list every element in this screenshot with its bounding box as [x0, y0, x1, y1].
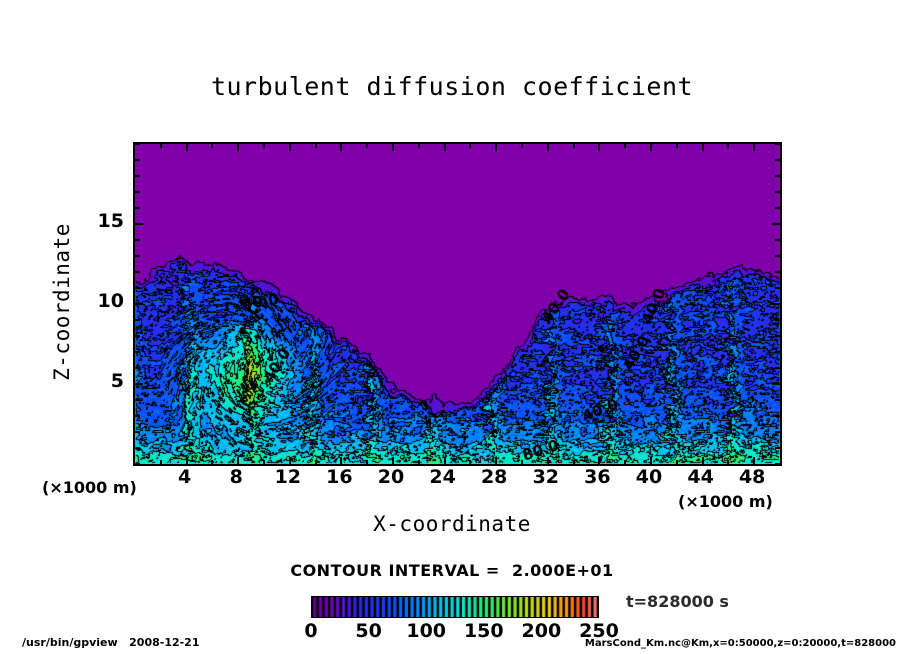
- x-axis-tick-top: [702, 144, 704, 151]
- y-axis-minor-tick: [135, 207, 140, 209]
- y-axis-minor-tick: [135, 335, 140, 337]
- gpview-plot-window: { "header": { "title": "turbulent diffus…: [0, 0, 904, 654]
- x-axis-minor-tick-top: [573, 144, 575, 148]
- x-axis-minor-tick-top: [263, 144, 265, 148]
- y-axis-minor-tick: [135, 287, 140, 289]
- x-axis-minor-tick-top: [676, 144, 678, 148]
- colorbar-tick-label: 50: [344, 620, 394, 642]
- y-axis-minor-tick: [775, 239, 780, 241]
- y-axis-minor-tick: [135, 399, 140, 401]
- y-axis-minor-tick: [775, 143, 780, 145]
- time-stamp: t=828000 s: [626, 592, 729, 611]
- x-axis-minor-tick: [418, 460, 420, 464]
- colorbar-gradient: [312, 597, 598, 617]
- x-axis-tick-top: [289, 144, 291, 151]
- y-axis-minor-tick: [775, 399, 780, 401]
- turbulence-field-heatmap: [135, 144, 780, 464]
- x-axis-minor-tick-top: [418, 144, 420, 148]
- y-axis-minor-tick: [135, 175, 140, 177]
- x-axis-minor-tick: [211, 460, 213, 464]
- x-axis-tick-top: [650, 144, 652, 151]
- y-axis-tick: [135, 223, 143, 225]
- x-axis-minor-tick-top: [160, 144, 162, 148]
- x-axis-minor-tick-top: [624, 144, 626, 148]
- x-axis-tick-top: [495, 144, 497, 151]
- x-axis-minor-tick: [315, 460, 317, 464]
- x-axis-tick-top: [753, 144, 755, 151]
- x-tick-label: 36: [574, 466, 620, 488]
- x-tick-label: 8: [213, 466, 259, 488]
- y-axis-minor-tick: [135, 415, 140, 417]
- y-axis-minor-tick: [135, 159, 140, 161]
- x-tick-label: 24: [420, 466, 466, 488]
- x-tick-label: 40: [626, 466, 672, 488]
- y-axis-minor-tick: [775, 287, 780, 289]
- y-axis-minor-tick: [775, 319, 780, 321]
- y-axis-minor-tick: [135, 431, 140, 433]
- x-tick-label: 4: [162, 466, 208, 488]
- x-axis-tick: [392, 457, 394, 464]
- x-axis-unit-note: (×1000 m): [678, 492, 773, 511]
- y-axis-tick: [772, 223, 780, 225]
- x-axis-minor-tick-top: [727, 144, 729, 148]
- colorbar-tick-label: 200: [516, 620, 566, 642]
- y-tick-label: 10: [84, 290, 124, 312]
- x-axis-title: X-coordinate: [0, 512, 904, 536]
- x-axis-minor-tick: [263, 460, 265, 464]
- y-axis-minor-tick: [775, 415, 780, 417]
- plot-area: 40.040.040.040.040.080.040.0: [133, 142, 782, 466]
- y-axis-minor-tick: [775, 463, 780, 465]
- y-axis-minor-tick: [775, 271, 780, 273]
- x-tick-label: 32: [523, 466, 569, 488]
- y-axis-unit-note: (×1000 m): [42, 478, 137, 497]
- colorbar: [311, 596, 599, 618]
- x-axis-tick: [495, 457, 497, 464]
- x-axis-minor-tick-top: [211, 144, 213, 148]
- x-axis-tick-top: [392, 144, 394, 151]
- x-axis-tick: [753, 457, 755, 464]
- contour-interval-caption: CONTOUR INTERVAL = 2.000E+01: [0, 561, 904, 580]
- x-axis-tick: [237, 457, 239, 464]
- y-axis-minor-tick: [775, 207, 780, 209]
- x-axis-minor-tick: [521, 460, 523, 464]
- x-axis-tick: [702, 457, 704, 464]
- x-axis-tick-top: [444, 144, 446, 151]
- x-axis-minor-tick: [624, 460, 626, 464]
- y-axis-title: Z-coordinate: [50, 182, 74, 422]
- x-axis-tick: [598, 457, 600, 464]
- x-axis-tick: [547, 457, 549, 464]
- x-axis-tick-top: [186, 144, 188, 151]
- y-axis-minor-tick: [775, 367, 780, 369]
- y-axis-minor-tick: [135, 255, 140, 257]
- y-axis-minor-tick: [135, 191, 140, 193]
- y-axis-minor-tick: [775, 191, 780, 193]
- y-axis-minor-tick: [775, 351, 780, 353]
- y-axis-minor-tick: [135, 239, 140, 241]
- y-axis-minor-tick: [135, 271, 140, 273]
- x-axis-minor-tick-top: [315, 144, 317, 148]
- x-axis-minor-tick: [727, 460, 729, 464]
- footer-program-stamp: /usr/bin/gpview 2008-12-21: [22, 636, 200, 649]
- x-axis-minor-tick: [469, 460, 471, 464]
- x-axis-tick: [340, 457, 342, 464]
- x-axis-minor-tick: [160, 460, 162, 464]
- colorbar-tick-label: 0: [286, 620, 336, 642]
- y-axis-minor-tick: [775, 335, 780, 337]
- y-axis-tick: [135, 383, 143, 385]
- y-axis-minor-tick: [775, 159, 780, 161]
- x-tick-label: 44: [678, 466, 724, 488]
- y-axis-minor-tick: [135, 447, 140, 449]
- y-axis-tick: [772, 383, 780, 385]
- x-tick-label: 28: [471, 466, 517, 488]
- x-tick-label: 12: [265, 466, 311, 488]
- colorbar-tick-label: 100: [401, 620, 451, 642]
- x-axis-tick-top: [598, 144, 600, 151]
- x-axis-tick: [289, 457, 291, 464]
- x-axis-minor-tick-top: [521, 144, 523, 148]
- y-tick-label: 5: [84, 370, 124, 392]
- x-axis-tick: [650, 457, 652, 464]
- y-axis-minor-tick: [135, 319, 140, 321]
- x-tick-label: 16: [316, 466, 362, 488]
- colorbar-tick-label-layer: 050100150200250: [300, 620, 610, 642]
- y-axis-minor-tick: [135, 351, 140, 353]
- x-axis-minor-tick: [573, 460, 575, 464]
- x-axis-minor-tick: [676, 460, 678, 464]
- y-axis-tick: [772, 303, 780, 305]
- y-axis-minor-tick: [135, 143, 140, 145]
- x-tick-label: 48: [729, 466, 775, 488]
- colorbar-tick-label: 150: [459, 620, 509, 642]
- footer-source-annotation: MarsCond_Km.nc@Km,x=0:50000,z=0:20000,t=…: [585, 638, 896, 649]
- y-axis-minor-tick: [775, 447, 780, 449]
- y-axis-minor-tick: [135, 463, 140, 465]
- x-axis-minor-tick-top: [469, 144, 471, 148]
- y-axis-minor-tick: [775, 431, 780, 433]
- y-axis-minor-tick: [775, 255, 780, 257]
- page-title: turbulent diffusion coefficient: [0, 72, 904, 101]
- y-axis-tick: [135, 303, 143, 305]
- x-axis-tick-top: [237, 144, 239, 151]
- y-axis-minor-tick: [135, 367, 140, 369]
- x-axis-tick: [186, 457, 188, 464]
- y-axis-minor-tick: [775, 175, 780, 177]
- x-axis-tick-top: [547, 144, 549, 151]
- y-tick-label: 15: [84, 210, 124, 232]
- x-axis-tick-top: [340, 144, 342, 151]
- x-tick-label: 20: [368, 466, 414, 488]
- x-axis-minor-tick: [366, 460, 368, 464]
- x-axis-minor-tick-top: [366, 144, 368, 148]
- x-axis-tick: [444, 457, 446, 464]
